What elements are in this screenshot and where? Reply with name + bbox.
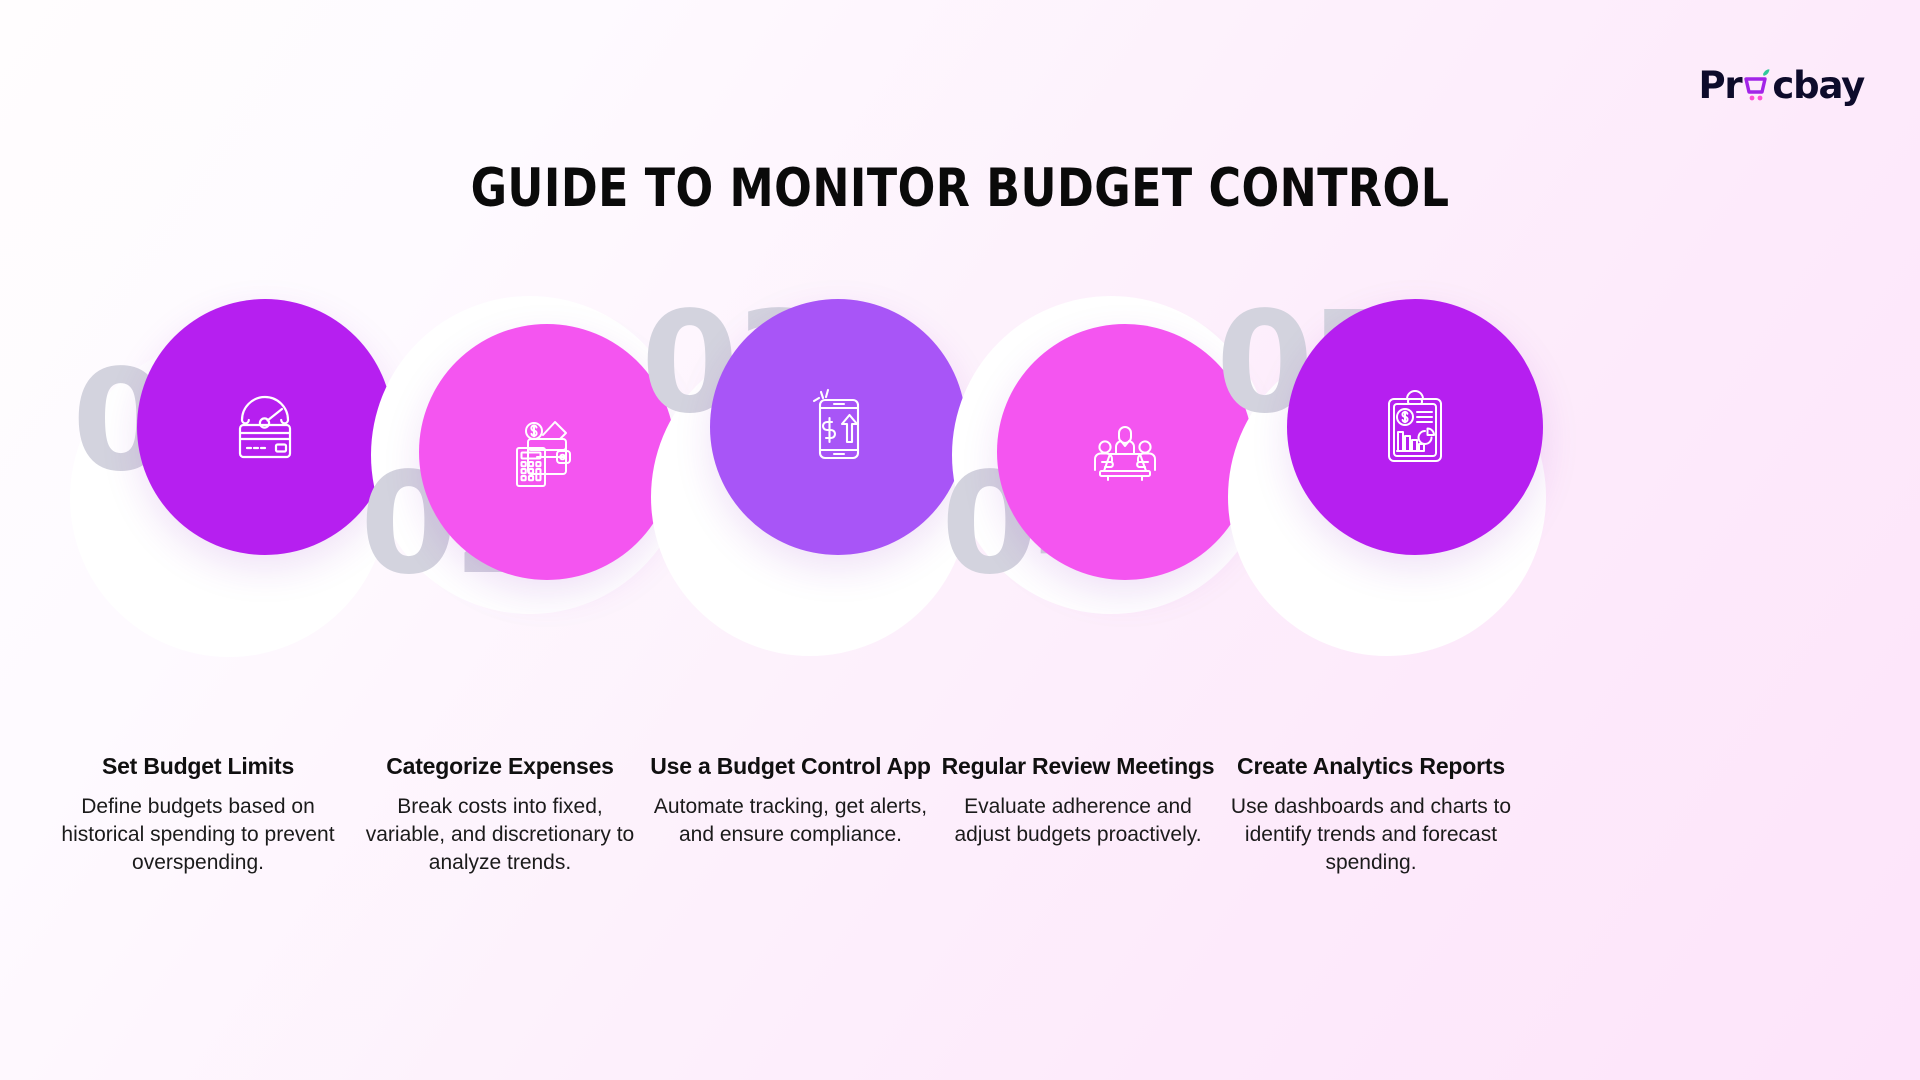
- step-icon-disc-3[interactable]: [710, 299, 966, 555]
- step-caption-3: Use a Budget Control App Automate tracki…: [648, 753, 933, 849]
- credit-card-gauge-icon: [222, 384, 308, 470]
- step-title-2: Categorize Expenses: [359, 753, 641, 780]
- step-icon-disc-5[interactable]: [1287, 299, 1543, 555]
- meeting-table-people-icon: [1082, 409, 1168, 495]
- step-icon-disc-4[interactable]: [997, 324, 1253, 580]
- analytics-clipboard-report-icon: [1372, 384, 1458, 470]
- step-caption-1: Set Budget Limits Define budgets based o…: [57, 753, 339, 877]
- steps-container: 01 Set Budget L: [0, 0, 1920, 1080]
- step-body-5: Use dashboards and charts to identify tr…: [1230, 793, 1512, 877]
- step-caption-5: Create Analytics Reports Use dashboards …: [1230, 753, 1512, 877]
- step-icon-disc-2[interactable]: [419, 324, 675, 580]
- step-title-4: Regular Review Meetings: [937, 753, 1219, 780]
- step-title-5: Create Analytics Reports: [1230, 753, 1512, 780]
- step-caption-2: Categorize Expenses Break costs into fix…: [359, 753, 641, 877]
- step-title-1: Set Budget Limits: [57, 753, 339, 780]
- step-icon-disc-1[interactable]: [137, 299, 393, 555]
- step-body-2: Break costs into fixed, variable, and di…: [359, 793, 641, 877]
- step-body-1: Define budgets based on historical spend…: [57, 793, 339, 877]
- step-body-3: Automate tracking, get alerts, and ensur…: [648, 793, 933, 849]
- step-body-4: Evaluate adherence and adjust budgets pr…: [937, 793, 1219, 849]
- step-caption-4: Regular Review Meetings Evaluate adheren…: [937, 753, 1219, 849]
- mobile-payment-alert-icon: [795, 384, 881, 470]
- wallet-calculator-icon: [504, 409, 590, 495]
- step-title-3: Use a Budget Control App: [648, 753, 933, 780]
